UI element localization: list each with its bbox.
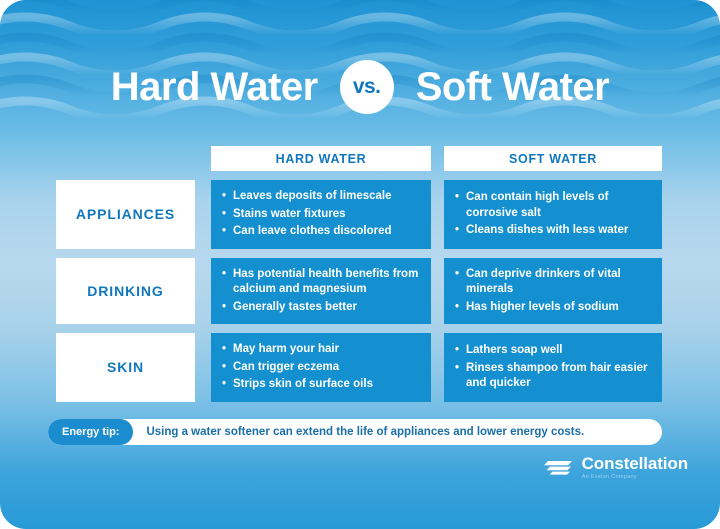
list-item: Generally tastes better [221, 300, 419, 316]
energy-tip-bar: Energy tip: Using a water softener can e… [48, 419, 662, 445]
list-item: Cleans dishes with less water [454, 223, 650, 239]
cell-drinking-hard: Has potential health benefits from calci… [211, 258, 431, 325]
list-item: Strips skin of surface oils [221, 377, 419, 393]
table-row: DRINKING Has potential health benefits f… [56, 258, 662, 325]
energy-tip-label: Energy tip: [48, 419, 133, 445]
row-label-skin: SKIN [56, 333, 195, 402]
constellation-logo: Constellation An Exelon Company [544, 455, 688, 481]
list-item: Rinses shampoo from hair easier and quic… [454, 361, 650, 392]
list-item: May harm your hair [221, 342, 419, 358]
list-item: Can contain high levels of corrosive sal… [454, 190, 650, 221]
list-item: Has potential health benefits from calci… [221, 267, 419, 298]
title-hard-water: Hard Water [111, 67, 318, 107]
list-item: Can trigger eczema [221, 360, 419, 376]
list-item: Leaves deposits of limescale [221, 189, 419, 205]
list-item: Stains water fixtures [221, 207, 419, 223]
column-header-hard-water: HARD WATER [211, 146, 431, 171]
cell-drinking-soft: Can deprive drinkers of vital minerals H… [444, 258, 662, 325]
list-item: Has higher levels of sodium [454, 300, 650, 316]
list-item: Can leave clothes discolored [221, 224, 419, 240]
page-title: Hard Water vs. Soft Water [0, 56, 720, 118]
logo-tagline: An Exelon Company [582, 475, 688, 481]
cell-skin-hard: May harm your hair Can trigger eczema St… [211, 333, 431, 402]
cell-skin-soft: Lathers soap well Rinses shampoo from ha… [444, 333, 662, 402]
table-row: SKIN May harm your hair Can trigger ecze… [56, 333, 662, 402]
vs-badge: vs. [340, 60, 394, 114]
header-corner-spacer [56, 146, 195, 171]
energy-tip-text: Using a water softener can extend the li… [133, 426, 584, 438]
list-item: Can deprive drinkers of vital minerals [454, 267, 650, 298]
list-item: Lathers soap well [454, 343, 650, 359]
cell-appliances-soft: Can contain high levels of corrosive sal… [444, 180, 662, 249]
infographic-card: Hard Water vs. Soft Water HARD WATER SOF… [0, 0, 720, 529]
comparison-table: HARD WATER SOFT WATER APPLIANCES Leaves … [56, 146, 662, 411]
table-header-row: HARD WATER SOFT WATER [56, 146, 662, 171]
row-label-appliances: APPLIANCES [56, 180, 195, 249]
logo-company-name: Constellation [582, 455, 688, 472]
column-header-soft-water: SOFT WATER [444, 146, 662, 171]
cell-appliances-hard: Leaves deposits of limescale Stains wate… [211, 180, 431, 249]
table-row: APPLIANCES Leaves deposits of limescale … [56, 180, 662, 249]
constellation-mark-icon [544, 457, 574, 479]
title-soft-water: Soft Water [416, 67, 610, 107]
row-label-drinking: DRINKING [56, 258, 195, 325]
